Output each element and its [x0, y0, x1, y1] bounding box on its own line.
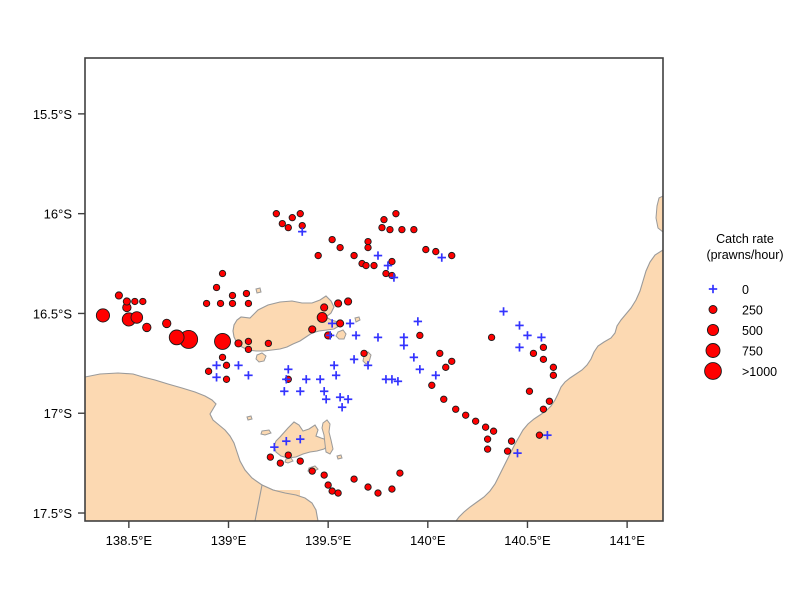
catch-rate-circle-marker — [243, 290, 249, 296]
legend-entry-label: 750 — [742, 345, 763, 359]
x-tick-label: 141°E — [609, 533, 645, 548]
catch-rate-circle-marker — [433, 248, 439, 254]
catch-rate-circle-marker — [437, 350, 443, 356]
catch-rate-circle-marker — [526, 388, 532, 394]
catch-rate-circle-marker — [393, 210, 399, 216]
y-tick-label: 15.5°S — [33, 107, 73, 122]
catch-rate-circle-marker — [297, 210, 303, 216]
catch-rate-circle-marker — [536, 432, 542, 438]
catch-rate-circle-marker — [429, 382, 435, 388]
catch-rate-circle-marker — [309, 468, 315, 474]
catch-rate-circle-marker — [335, 300, 342, 307]
catch-rate-circle-marker — [371, 262, 377, 268]
catch-rate-circle-marker — [351, 252, 357, 258]
y-tick-label: 16.5°S — [33, 306, 73, 321]
catch-rate-circle-marker — [289, 214, 295, 220]
catch-rate-circle-marker — [219, 354, 225, 360]
catch-rate-circle-marker — [504, 448, 510, 454]
catch-rate-circle-marker — [508, 438, 514, 444]
catch-rate-circle-marker — [203, 300, 209, 306]
catch-rate-circle-marker — [344, 298, 351, 305]
catch-rate-circle-marker — [115, 292, 122, 299]
catch-rate-circle-marker — [315, 252, 321, 258]
catch-rate-circle-marker — [423, 246, 429, 252]
catch-rate-circle-marker — [550, 364, 556, 370]
catch-rate-circle-marker — [132, 298, 138, 304]
legend-circle-symbol — [709, 306, 717, 314]
catch-rate-circle-marker — [375, 490, 381, 496]
catch-rate-circle-marker — [381, 216, 387, 222]
catch-rate-circle-marker — [449, 358, 455, 364]
legend-entry-label: 0 — [742, 283, 749, 297]
catch-rate-circle-marker — [530, 350, 536, 356]
catch-rate-circle-marker — [453, 406, 459, 412]
catch-rate-circle-marker — [273, 210, 279, 216]
catch-rate-circle-marker — [361, 350, 367, 356]
catch-rate-map-figure: 138.5°E139°E139.5°E140°E140.5°E141°E 15.… — [0, 0, 800, 600]
catch-rate-circle-marker — [143, 323, 151, 331]
catch-rate-circle-marker — [389, 258, 395, 264]
catch-rate-circle-marker — [411, 226, 417, 232]
catch-rate-circle-marker — [383, 270, 389, 276]
catch-rate-circle-marker — [550, 372, 556, 378]
catch-rate-circle-marker — [169, 330, 184, 345]
catch-rate-circle-marker — [329, 236, 335, 242]
catch-rate-circle-marker — [397, 470, 403, 476]
catch-rate-circle-marker — [317, 312, 327, 322]
catch-rate-circle-marker — [443, 364, 449, 370]
y-tick-label: 17.5°S — [33, 506, 73, 521]
catch-rate-circle-marker — [321, 472, 327, 478]
catch-rate-circle-marker — [219, 270, 225, 276]
catch-rate-circle-marker — [449, 252, 455, 258]
catch-rate-circle-marker — [484, 436, 490, 442]
catch-rate-circle-marker — [472, 418, 478, 424]
catch-rate-circle-marker — [229, 300, 235, 306]
catch-rate-circle-marker — [488, 334, 494, 340]
catch-rate-circle-marker — [337, 244, 343, 250]
catch-rate-circle-marker — [309, 326, 316, 333]
legend-entry-label: 500 — [742, 324, 763, 338]
legend-circle-symbol — [705, 363, 722, 380]
catch-rate-circle-marker — [462, 412, 468, 418]
catch-rate-circle-marker — [140, 298, 146, 304]
catch-rate-circle-marker — [325, 482, 331, 488]
catch-rate-circle-marker — [213, 284, 219, 290]
legend-title-line2: (prawns/hour) — [706, 248, 783, 262]
catch-rate-circle-marker — [490, 428, 496, 434]
catch-rate-circle-marker — [131, 312, 143, 324]
x-tick-label: 138.5°E — [106, 533, 153, 548]
catch-rate-circle-marker — [546, 398, 552, 404]
catch-rate-circle-marker — [229, 292, 235, 298]
x-tick-label: 139°E — [211, 533, 247, 548]
catch-rate-circle-marker — [265, 340, 271, 346]
catch-rate-circle-marker — [235, 340, 242, 347]
catch-rate-circle-marker — [245, 346, 251, 352]
legend-title-line1: Catch rate — [716, 232, 774, 246]
catch-rate-circle-marker — [482, 424, 488, 430]
catch-rate-circle-marker — [277, 460, 283, 466]
catch-rate-circle-marker — [329, 488, 335, 494]
catch-rate-circle-marker — [335, 490, 341, 496]
catch-rate-circle-marker — [215, 333, 231, 349]
catch-rate-circle-marker — [484, 446, 490, 452]
x-tick-label: 140°E — [410, 533, 446, 548]
x-tick-label: 139.5°E — [305, 533, 352, 548]
catch-rate-circle-marker — [285, 224, 291, 230]
y-tick-label: 17°S — [44, 406, 73, 421]
island-sylvester — [256, 353, 266, 362]
catch-rate-circle-marker — [365, 244, 371, 250]
catch-rate-circle-marker — [365, 484, 371, 490]
island-tiny-north — [256, 288, 261, 293]
legend-circle-symbol — [707, 324, 718, 335]
legend-entry-label: >1000 — [742, 365, 777, 379]
x-tick-label: 140.5°E — [504, 533, 551, 548]
catch-rate-circle-marker — [417, 332, 423, 338]
catch-rate-circle-marker — [267, 454, 273, 460]
catch-rate-circle-marker — [365, 238, 371, 244]
catch-rate-circle-marker — [223, 362, 229, 368]
catch-rate-circle-marker — [297, 458, 303, 464]
catch-rate-circle-marker — [321, 304, 328, 311]
catch-rate-circle-marker — [540, 406, 546, 412]
y-tick-label: 16°S — [44, 207, 73, 222]
legend-circle-symbol — [706, 344, 720, 358]
island-reef-dot-b — [337, 455, 342, 459]
catch-rate-circle-marker — [96, 309, 109, 322]
catch-rate-circle-marker — [205, 368, 211, 374]
catch-rate-circle-marker — [163, 319, 171, 327]
catch-rate-circle-marker — [279, 220, 285, 226]
catch-rate-circle-marker — [223, 376, 229, 382]
catch-rate-circle-marker — [245, 338, 251, 344]
catch-rate-circle-marker — [379, 224, 385, 230]
island-reef-dot-a — [247, 416, 252, 420]
catch-rate-circle-marker — [245, 300, 251, 306]
catch-rate-circle-marker — [123, 298, 130, 305]
catch-rate-circle-marker — [351, 476, 357, 482]
legend-entry-label: 250 — [742, 304, 763, 318]
catch-rate-circle-marker — [285, 452, 291, 458]
catch-rate-circle-marker — [387, 226, 393, 232]
catch-rate-circle-marker — [217, 300, 223, 306]
catch-rate-circle-marker — [363, 262, 369, 268]
catch-rate-circle-marker — [540, 344, 546, 350]
catch-rate-circle-marker — [441, 396, 447, 402]
catch-rate-circle-marker — [540, 356, 546, 362]
catch-rate-circle-marker — [389, 486, 395, 492]
catch-rate-circle-marker — [337, 320, 344, 327]
catch-rate-circle-marker — [399, 226, 405, 232]
